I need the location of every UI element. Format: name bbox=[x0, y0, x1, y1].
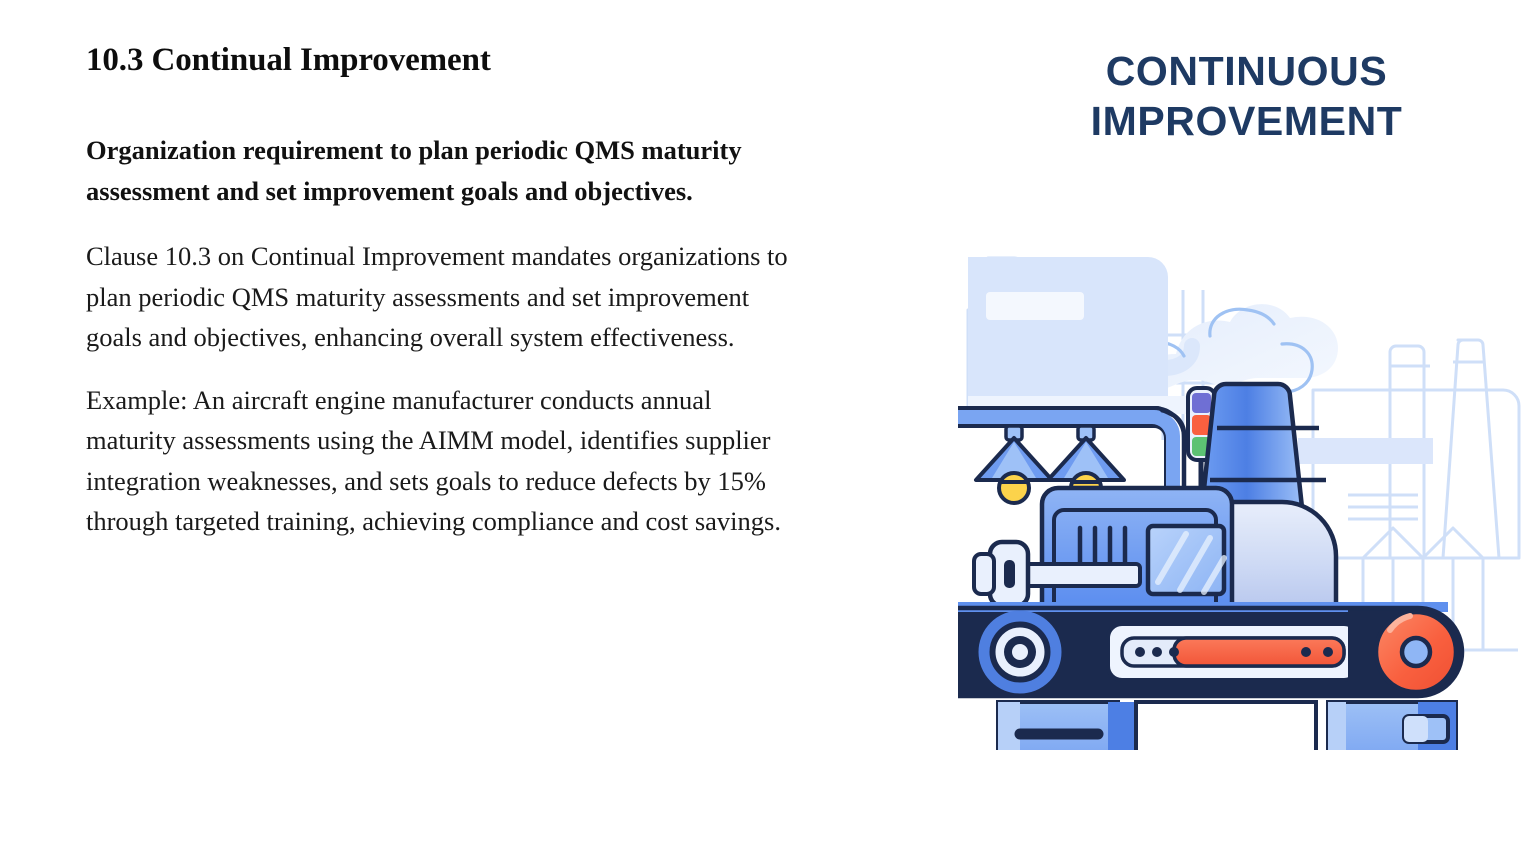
conveyor-pulley-left bbox=[984, 616, 1056, 688]
body-content: Organization requirement to plan periodi… bbox=[86, 130, 798, 542]
factory-illustration bbox=[958, 150, 1535, 750]
conveyor-roller-right bbox=[1348, 608, 1462, 696]
lamp-icon-1 bbox=[976, 426, 1052, 503]
machine-window bbox=[1148, 526, 1224, 594]
right-panel: CONTINUOUS IMPROVEMENT bbox=[958, 0, 1535, 863]
conveyor-belt bbox=[958, 602, 1462, 696]
illustration-heading-line-1: CONTINUOUS bbox=[958, 46, 1535, 96]
illustration-heading-line-2: IMPROVEMENT bbox=[958, 96, 1535, 146]
factory-production-line-icon bbox=[958, 150, 1535, 750]
machine-body bbox=[974, 488, 1232, 608]
machine-base bbox=[998, 702, 1456, 750]
text-column: 10.3 Continual Improvement Organization … bbox=[86, 40, 846, 564]
product-indicator-tray bbox=[1108, 624, 1358, 680]
paragraph-example: Example: An aircraft engine manufacturer… bbox=[86, 380, 798, 542]
slide-root: 10.3 Continual Improvement Organization … bbox=[0, 0, 1535, 863]
lead-paragraph: Organization requirement to plan periodi… bbox=[86, 130, 776, 211]
page-title: 10.3 Continual Improvement bbox=[86, 40, 846, 80]
paragraph-clause: Clause 10.3 on Continual Improvement man… bbox=[86, 236, 798, 358]
illustration-heading: CONTINUOUS IMPROVEMENT bbox=[958, 46, 1535, 146]
